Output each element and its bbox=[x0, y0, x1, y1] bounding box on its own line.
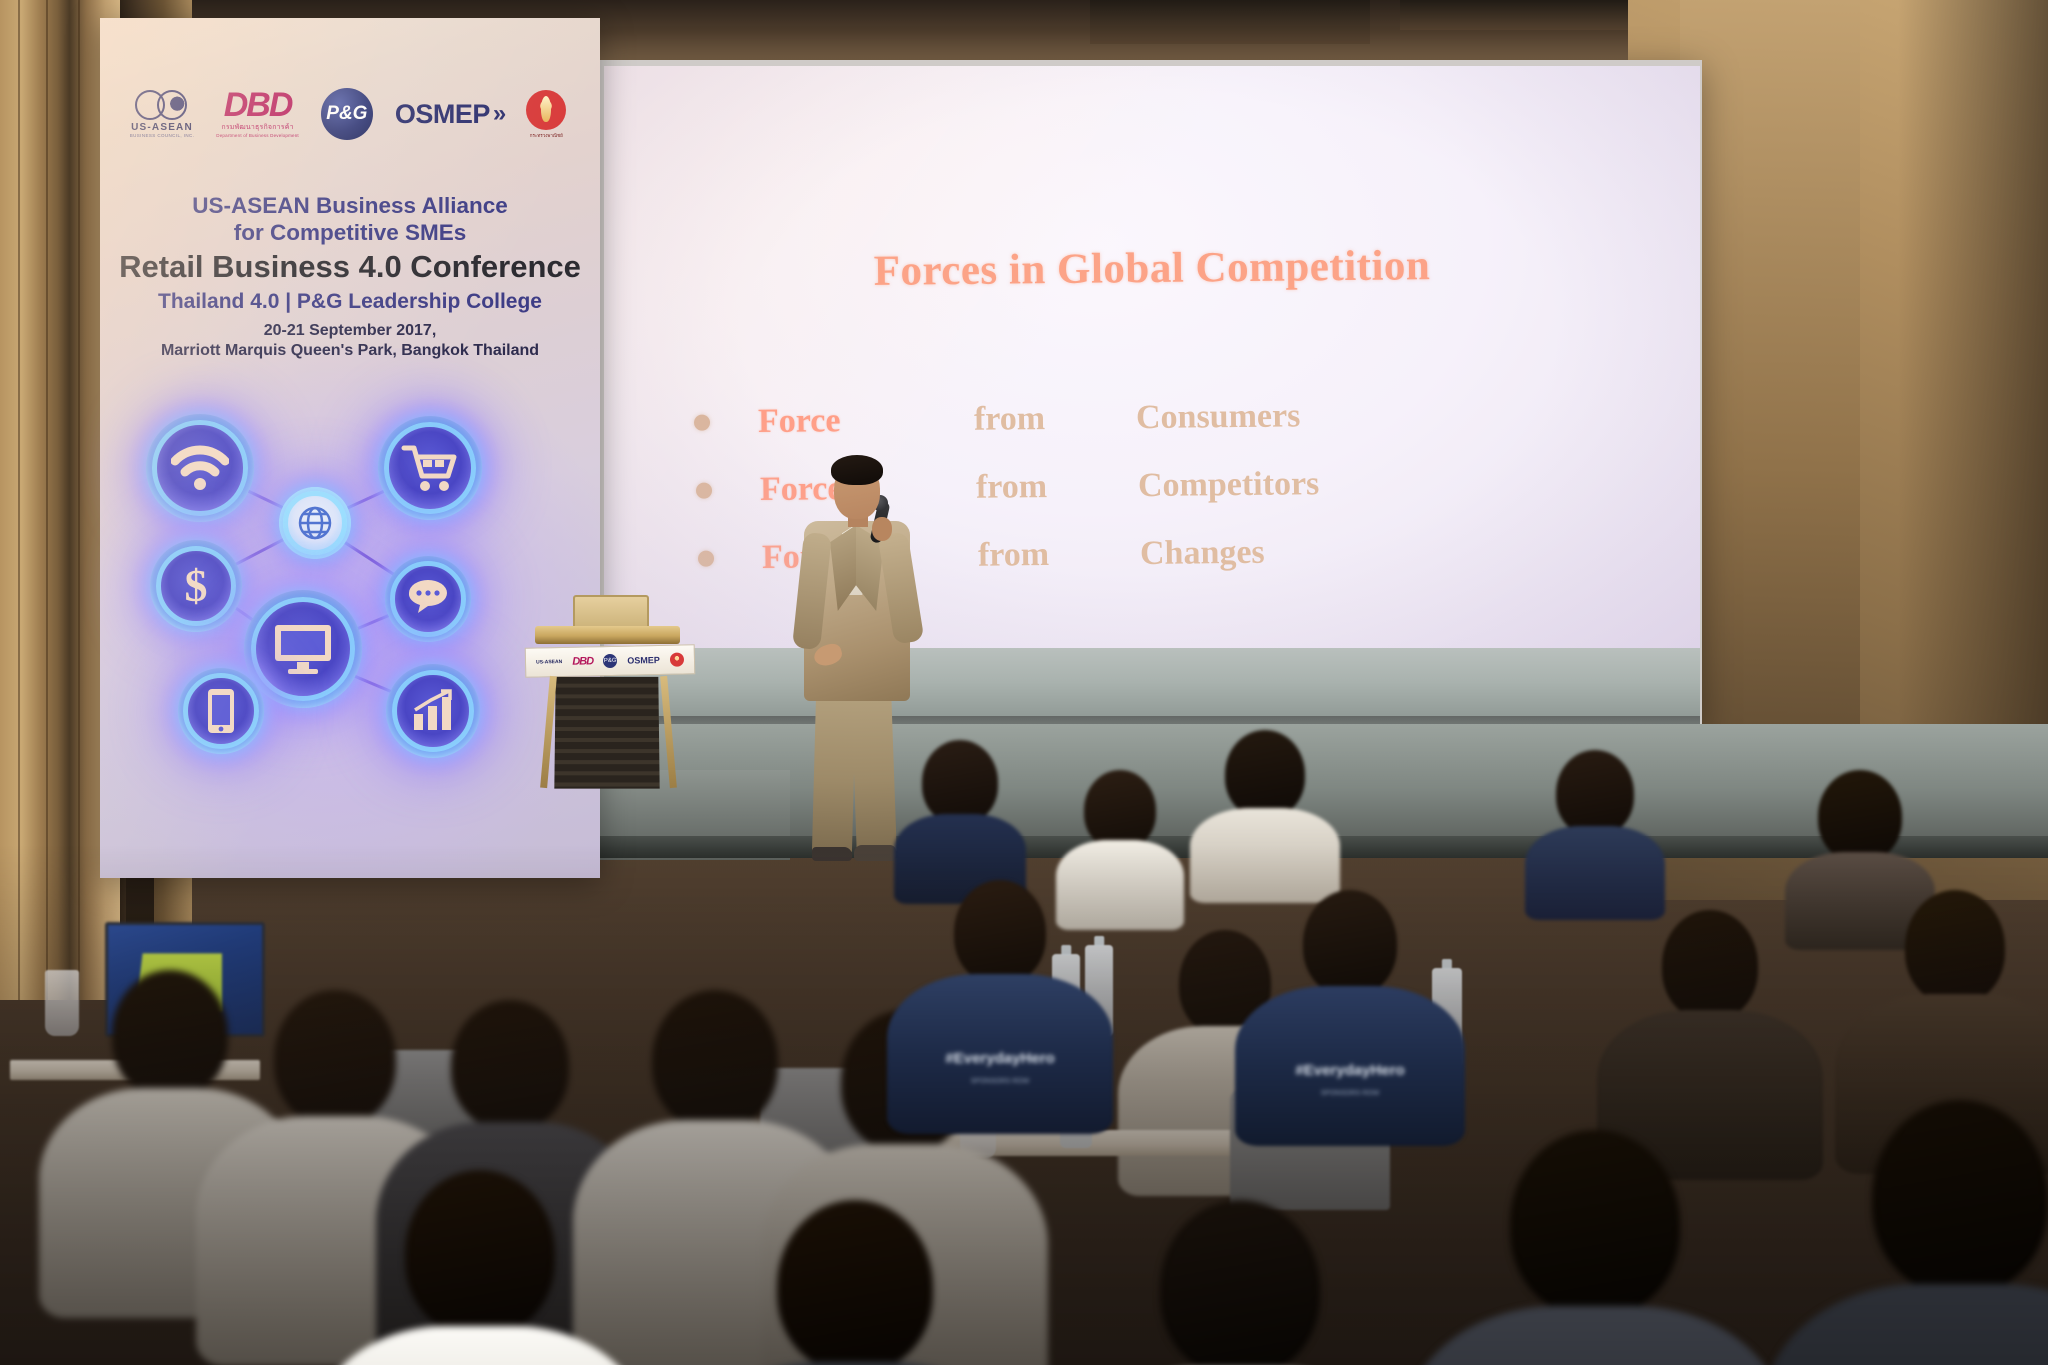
audience-person bbox=[1080, 1200, 1400, 1365]
audience-seating-area: #EverydayHero SPONSORS ROW #EverydayHero… bbox=[0, 700, 2048, 1365]
bullet-connector-word: from bbox=[978, 535, 1140, 575]
dbd-logo: DBD กรมพัฒนาธุรกิจการค้า Department of B… bbox=[216, 90, 299, 138]
us-asean-mark-icon bbox=[135, 90, 189, 120]
tshirt-sponsor-row: SPONSORS ROW bbox=[971, 1078, 1030, 1085]
audience-person-tshirt: #EverydayHero SPONSORS ROW bbox=[900, 880, 1100, 1120]
wall-mid bbox=[1680, 0, 1860, 780]
banner-sponsor-logos: US-ASEAN BUSINESS COUNCIL, INC. DBD กรมพ… bbox=[100, 88, 600, 140]
audience-person bbox=[1790, 1100, 2048, 1365]
bullet-dot-icon bbox=[696, 483, 712, 499]
us-asean-logo-subtext: BUSINESS COUNCIL, INC. bbox=[130, 133, 195, 138]
bullet-object-word: Competitors bbox=[1138, 465, 1320, 505]
bullet-connector-word: from bbox=[976, 467, 1138, 507]
desktop-monitor-icon bbox=[244, 590, 362, 708]
banner-heading-line1: US-ASEAN Business Alliance bbox=[116, 193, 584, 220]
speaker-mic-hand bbox=[872, 517, 892, 541]
dbd-logo-subtext-en: Department of Business Development bbox=[216, 133, 299, 138]
wifi-icon bbox=[146, 414, 254, 522]
wall-right-shadow bbox=[1898, 0, 2048, 760]
audience-person bbox=[1430, 1130, 1760, 1365]
bullet-connector-word: from bbox=[974, 399, 1136, 439]
podium-thai-gov-logo bbox=[670, 652, 684, 666]
banner-venue: Marriott Marquis Queen's Park, Bangkok T… bbox=[116, 342, 584, 360]
thai-gov-logo-subtext: กระทรวงพาณิชย์ bbox=[530, 132, 563, 139]
banner-conference-title: Retail Business 4.0 Conference bbox=[116, 249, 584, 285]
banner-date: 20-21 September 2017, bbox=[116, 322, 584, 340]
bullet-dot-icon bbox=[698, 551, 714, 567]
shopping-cart-icon bbox=[378, 416, 482, 520]
slide-title: Forces in Global Competition bbox=[604, 238, 1700, 298]
podium-osmep-logo: OSMEP bbox=[627, 655, 660, 666]
podium-us-asean-logo: US-ASEAN bbox=[536, 659, 562, 666]
speaker-hair bbox=[831, 455, 883, 485]
tshirt-hashtag: #EverydayHero bbox=[945, 1050, 1054, 1067]
audience-person bbox=[1200, 730, 1330, 890]
bullet-dot-icon bbox=[694, 415, 710, 431]
globe-icon bbox=[279, 487, 351, 559]
ceiling-panel bbox=[1090, 0, 1370, 44]
banner-heading-line2: for Competitive SMEs bbox=[116, 220, 584, 247]
podium-pg-logo: P&G bbox=[603, 654, 617, 668]
dbd-logo-subtext-thai: กรมพัฒนาธุรกิจการค้า bbox=[221, 122, 293, 133]
audience-person bbox=[1530, 750, 1660, 910]
us-asean-logo-text: US-ASEAN bbox=[131, 122, 193, 133]
podium-dbd-logo: DBD bbox=[572, 655, 593, 667]
pg-logo: P&G bbox=[321, 88, 373, 140]
thai-gov-logo: กระทรวงพาณิชย์ bbox=[522, 88, 570, 140]
osmep-logo-text: OSMEP bbox=[395, 99, 490, 130]
podium-top-rail bbox=[535, 626, 680, 644]
projection-screen: Forces in Global Competition Force from … bbox=[604, 66, 1700, 661]
audience-person bbox=[1610, 910, 1810, 1160]
audience-person bbox=[700, 1200, 1010, 1365]
podium-sponsor-plate: US-ASEAN DBD P&G OSMEP bbox=[525, 644, 696, 678]
dollar-icon: $ bbox=[150, 540, 242, 632]
osmep-logo: OSMEP » bbox=[395, 99, 500, 130]
dbd-logo-text: DBD bbox=[224, 90, 292, 121]
tshirt-hashtag: #EverydayHero bbox=[1295, 1062, 1404, 1079]
audience-person bbox=[900, 740, 1020, 890]
bullet-object-word: Changes bbox=[1140, 534, 1265, 573]
banner-heading-block: US-ASEAN Business Alliance for Competiti… bbox=[100, 193, 600, 360]
audience-person-tshirt: #EverydayHero SPONSORS ROW bbox=[1250, 890, 1450, 1130]
osmep-arrows-icon: » bbox=[493, 100, 500, 128]
audience-person bbox=[330, 1170, 630, 1365]
banner-subtitle: Thailand 4.0 | P&G Leadership College bbox=[116, 289, 584, 314]
tshirt-sponsor-row: SPONSORS ROW bbox=[1321, 1090, 1380, 1097]
bullet-object-word: Consumers bbox=[1136, 397, 1301, 437]
slide-bullet-item: Force from Consumers bbox=[694, 379, 1595, 456]
chat-bubble-icon bbox=[385, 556, 471, 642]
ceiling-panel bbox=[1400, 0, 1630, 30]
conference-photo-scene: Forces in Global Competition Force from … bbox=[0, 0, 2048, 1365]
us-asean-logo: US-ASEAN BUSINESS COUNCIL, INC. bbox=[130, 90, 195, 138]
thai-emblem-icon bbox=[526, 90, 566, 130]
bullet-force-word: Force bbox=[758, 401, 974, 441]
